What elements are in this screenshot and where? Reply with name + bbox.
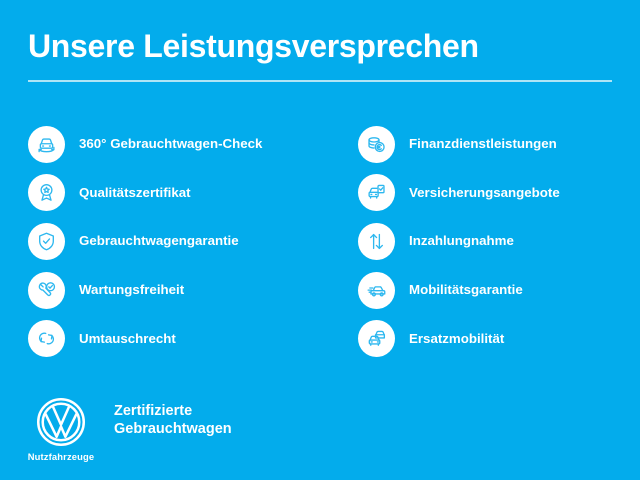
car-document-check-icon (358, 174, 395, 211)
benefit-label: 360° Gebrauchtwagen-Check (79, 136, 262, 152)
benefit-item-wartungsfreiheit[interactable]: Wartungsfreiheit (28, 266, 358, 315)
benefit-label: Ersatzmobilität (409, 331, 504, 347)
benefit-label: Qualitätszertifikat (79, 185, 191, 201)
arrows-up-down-icon (358, 223, 395, 260)
award-rosette-icon (28, 174, 65, 211)
benefit-label: Inzahlungnahme (409, 233, 514, 249)
benefit-item-qualitaetszertifikat[interactable]: Qualitätszertifikat (28, 169, 358, 218)
vw-roundel-icon (35, 396, 87, 448)
benefit-item-ersatzmobilitaet[interactable]: Ersatzmobilität (358, 314, 612, 363)
benefit-item-inzahlungnahme[interactable]: Inzahlungnahme (358, 217, 612, 266)
benefit-item-umtauschrecht[interactable]: Umtauschrecht (28, 314, 358, 363)
benefit-label: Finanzdienstleistungen (409, 136, 557, 152)
benefits-grid: 360° Gebrauchtwagen-Check Finanzdienstle… (28, 120, 612, 363)
page-title: Unsere Leistungsversprechen (28, 26, 612, 66)
brand-tagline-line2: Gebrauchtwagen (114, 420, 232, 438)
car-check-360-icon (28, 126, 65, 163)
benefit-item-gebrauchtwagen-check[interactable]: 360° Gebrauchtwagen-Check (28, 120, 358, 169)
title-divider (28, 80, 612, 82)
benefit-item-finanzdienstleistungen[interactable]: Finanzdienstleistungen (358, 120, 612, 169)
two-cars-icon (358, 320, 395, 357)
benefit-item-mobilitaetsgarantie[interactable]: Mobilitätsgarantie (358, 266, 612, 315)
brand-tagline: Zertifizierte Gebrauchtwagen (114, 402, 232, 438)
wrench-check-icon (28, 272, 65, 309)
benefit-item-gebrauchtwagengarantie[interactable]: Gebrauchtwagengarantie (28, 217, 358, 266)
brand-tagline-line1: Zertifizierte (114, 402, 232, 420)
vw-subbrand-label: Nutzfahrzeuge (28, 451, 95, 462)
exchange-arrows-icon (28, 320, 65, 357)
benefit-label: Wartungsfreiheit (79, 282, 184, 298)
benefit-label: Umtauschrecht (79, 331, 176, 347)
coins-euro-icon (358, 126, 395, 163)
volkswagen-logo: Nutzfahrzeuge (28, 396, 94, 462)
benefit-label: Mobilitätsgarantie (409, 282, 523, 298)
benefit-item-versicherungsangebote[interactable]: Versicherungsangebote (358, 169, 612, 218)
brand-footer: Nutzfahrzeuge Zertifizierte Gebrauchtwag… (28, 396, 232, 462)
shield-check-icon (28, 223, 65, 260)
benefit-label: Gebrauchtwagengarantie (79, 233, 239, 249)
benefit-label: Versicherungsangebote (409, 185, 560, 201)
car-motion-icon (358, 272, 395, 309)
vw-benefits-poster: Unsere Leistungsversprechen 360° Gebrauc… (0, 0, 640, 480)
header: Unsere Leistungsversprechen (28, 26, 612, 82)
